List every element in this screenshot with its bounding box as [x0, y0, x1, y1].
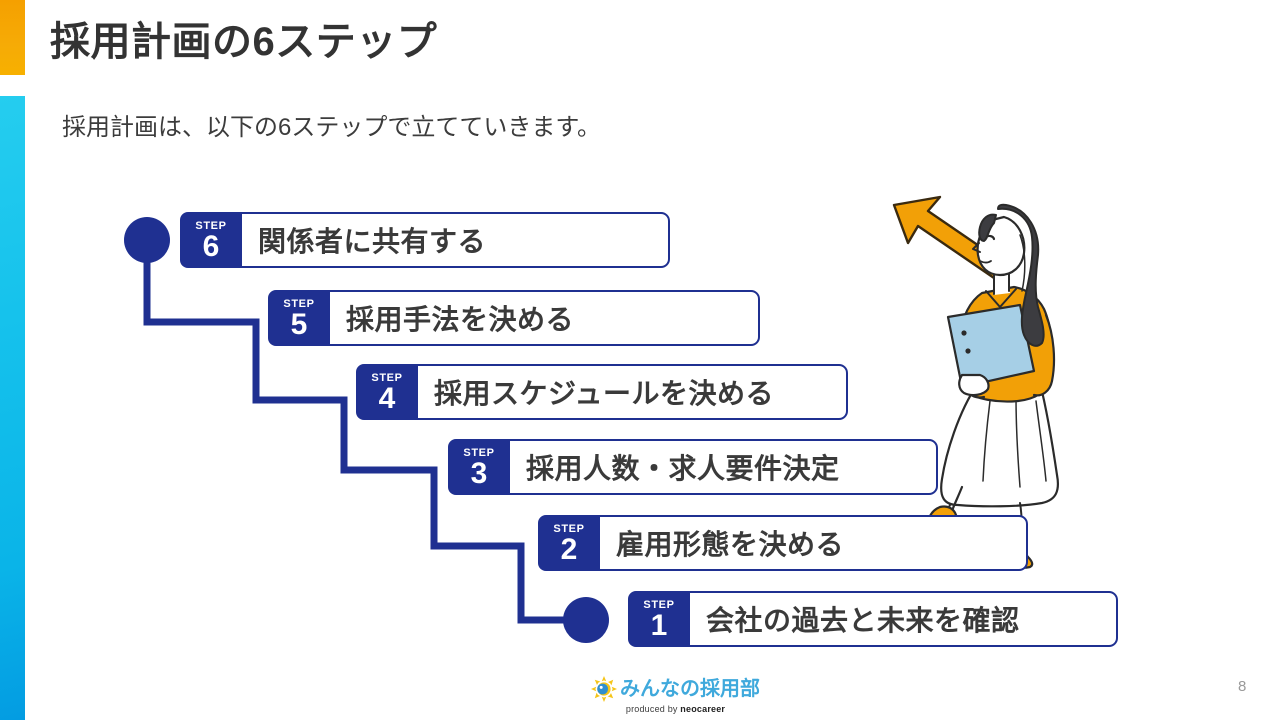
step-pill-4: 採用スケジュールを決める [398, 364, 848, 420]
step-number-label: 6 [203, 231, 220, 262]
step-badge-6: STEP 6 [180, 212, 242, 268]
step-row-1[interactable]: STEP 1 会社の過去と未来を確認 [628, 591, 1118, 647]
step-label-text: 会社の過去と未来を確認 [706, 599, 1020, 639]
step-6-node-dot [124, 217, 170, 263]
step-label-text: 採用手法を決める [346, 298, 574, 338]
step-badge-2: STEP 2 [538, 515, 600, 571]
logo-brand-bold: career [697, 704, 725, 714]
logo-brand-light: neo [680, 704, 697, 714]
footer-logo: みんなの採用部 produced by neocareer [588, 676, 763, 716]
step-number-label: 2 [561, 534, 578, 565]
step-pill-1: 会社の過去と未来を確認 [670, 591, 1118, 647]
step-1-node-dot [563, 597, 609, 643]
step-row-5[interactable]: STEP 5 採用手法を決める [268, 290, 760, 346]
step-label-text: 採用人数・求人要件決定 [526, 447, 840, 487]
step-label-text: 採用スケジュールを決める [434, 372, 774, 412]
step-label-text: 雇用形態を決める [616, 523, 844, 563]
step-number-label: 5 [291, 309, 308, 340]
step-number-label: 3 [471, 458, 488, 489]
step-row-6[interactable]: STEP 6 関係者に共有する [180, 212, 670, 268]
sun-logo-icon [591, 676, 617, 702]
slide-canvas: 採用計画の6ステップ 採用計画は、以下の6ステップで立てていきます。 STEP … [0, 0, 1280, 720]
logo-wordmark: みんなの採用部 [620, 678, 760, 700]
logo-tagline: produced by neocareer [626, 704, 725, 714]
step-badge-4: STEP 4 [356, 364, 418, 420]
logo-tagline-prefix: produced by [626, 704, 680, 714]
step-number-label: 4 [379, 383, 396, 414]
step-pill-3: 採用人数・求人要件決定 [490, 439, 938, 495]
step-row-4[interactable]: STEP 4 採用スケジュールを決める [356, 364, 848, 420]
step-label-text: 関係者に共有する [258, 220, 486, 260]
step-pill-2: 雇用形態を決める [580, 515, 1028, 571]
page-number: 8 [1238, 678, 1246, 695]
step-row-3[interactable]: STEP 3 採用人数・求人要件決定 [448, 439, 938, 495]
step-pill-5: 採用手法を決める [310, 290, 760, 346]
step-number-label: 1 [651, 610, 668, 641]
steps-diagram: STEP 6 関係者に共有する STEP 5 採用手法を決める STEP 4 採… [0, 0, 1280, 720]
step-badge-5: STEP 5 [268, 290, 330, 346]
step-pill-6: 関係者に共有する [222, 212, 670, 268]
step-badge-1: STEP 1 [628, 591, 690, 647]
step-row-2[interactable]: STEP 2 雇用形態を決める [538, 515, 1028, 571]
step-badge-3: STEP 3 [448, 439, 510, 495]
